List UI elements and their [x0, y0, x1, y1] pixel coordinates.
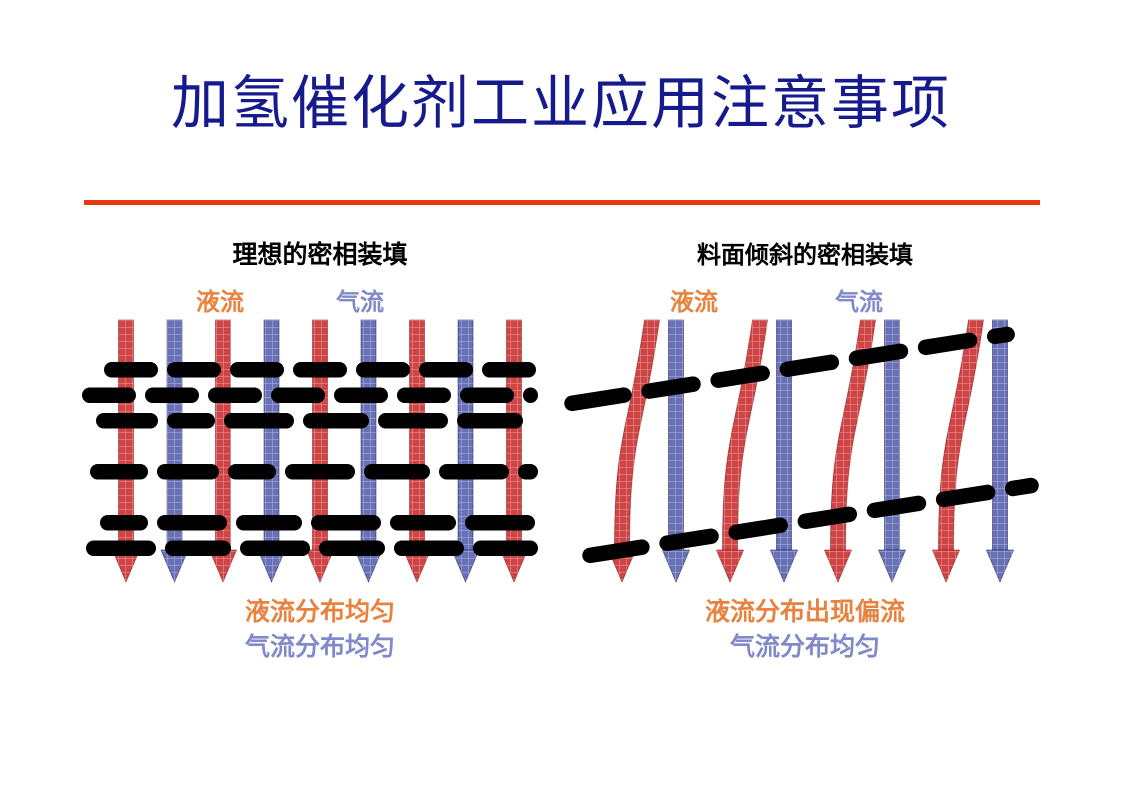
gas-flow-arrow [987, 320, 1014, 582]
catalyst-pellet [658, 527, 720, 552]
panel-heading-ideal: 理想的密相装填 [90, 235, 550, 271]
gas-flow-arrow [771, 320, 798, 582]
catalyst-pellet [523, 388, 538, 404]
caption-gas-tilted: 气流分布均匀 [570, 630, 1040, 665]
flow-legend-ideal: 液流 气流 [90, 282, 550, 316]
catalyst-pellet [224, 413, 294, 429]
panel-tilted-packing: 料面倾斜的密相装填 液流 气流 液流分布出现偏流 气流分布均匀 [570, 225, 1040, 695]
catalyst-pellet [796, 505, 858, 530]
bed-diagram-tilted-svg [570, 320, 1040, 590]
catalyst-bed-ideal [90, 320, 550, 590]
catalyst-pellet [709, 364, 771, 389]
catalyst-pellet [157, 464, 219, 480]
catalyst-pellet [1004, 477, 1040, 498]
panel-heading-tilted: 料面倾斜的密相装填 [570, 235, 1040, 270]
captions-tilted: 液流分布出现偏流 气流分布均匀 [570, 595, 1040, 664]
caption-gas-ideal: 气流分布均匀 [90, 630, 550, 665]
catalyst-pellet [563, 386, 633, 412]
liquid-flow-arrow [933, 320, 984, 582]
legend-liquid-flow: 液流 [670, 282, 718, 317]
panel-ideal-packing: 理想的密相装填 液流 气流 液流分布均匀 气流分布均匀 [90, 225, 550, 695]
caption-liquid-tilted: 液流分布出现偏流 [570, 595, 1040, 630]
bed-diagram-ideal-svg [90, 320, 550, 590]
page-title: 加氢催化剂工业应用注意事项 [0, 72, 1122, 136]
catalyst-pellet [439, 464, 509, 480]
caption-liquid-ideal: 液流分布均匀 [90, 595, 550, 630]
legend-liquid-flow: 液流 [196, 282, 244, 317]
flow-legend-tilted: 液流 气流 [570, 282, 1040, 316]
flow-arrows-overlay [113, 320, 528, 582]
legend-gas-flow: 气流 [336, 282, 384, 317]
title-divider [84, 200, 1040, 205]
legend-gas-flow: 气流 [835, 282, 883, 317]
catalyst-pellet [465, 515, 535, 531]
captions-ideal: 液流分布均匀 气流分布均匀 [90, 595, 550, 664]
catalyst-bed-tilted [570, 320, 1040, 590]
liquid-flow-arrow [717, 320, 768, 582]
